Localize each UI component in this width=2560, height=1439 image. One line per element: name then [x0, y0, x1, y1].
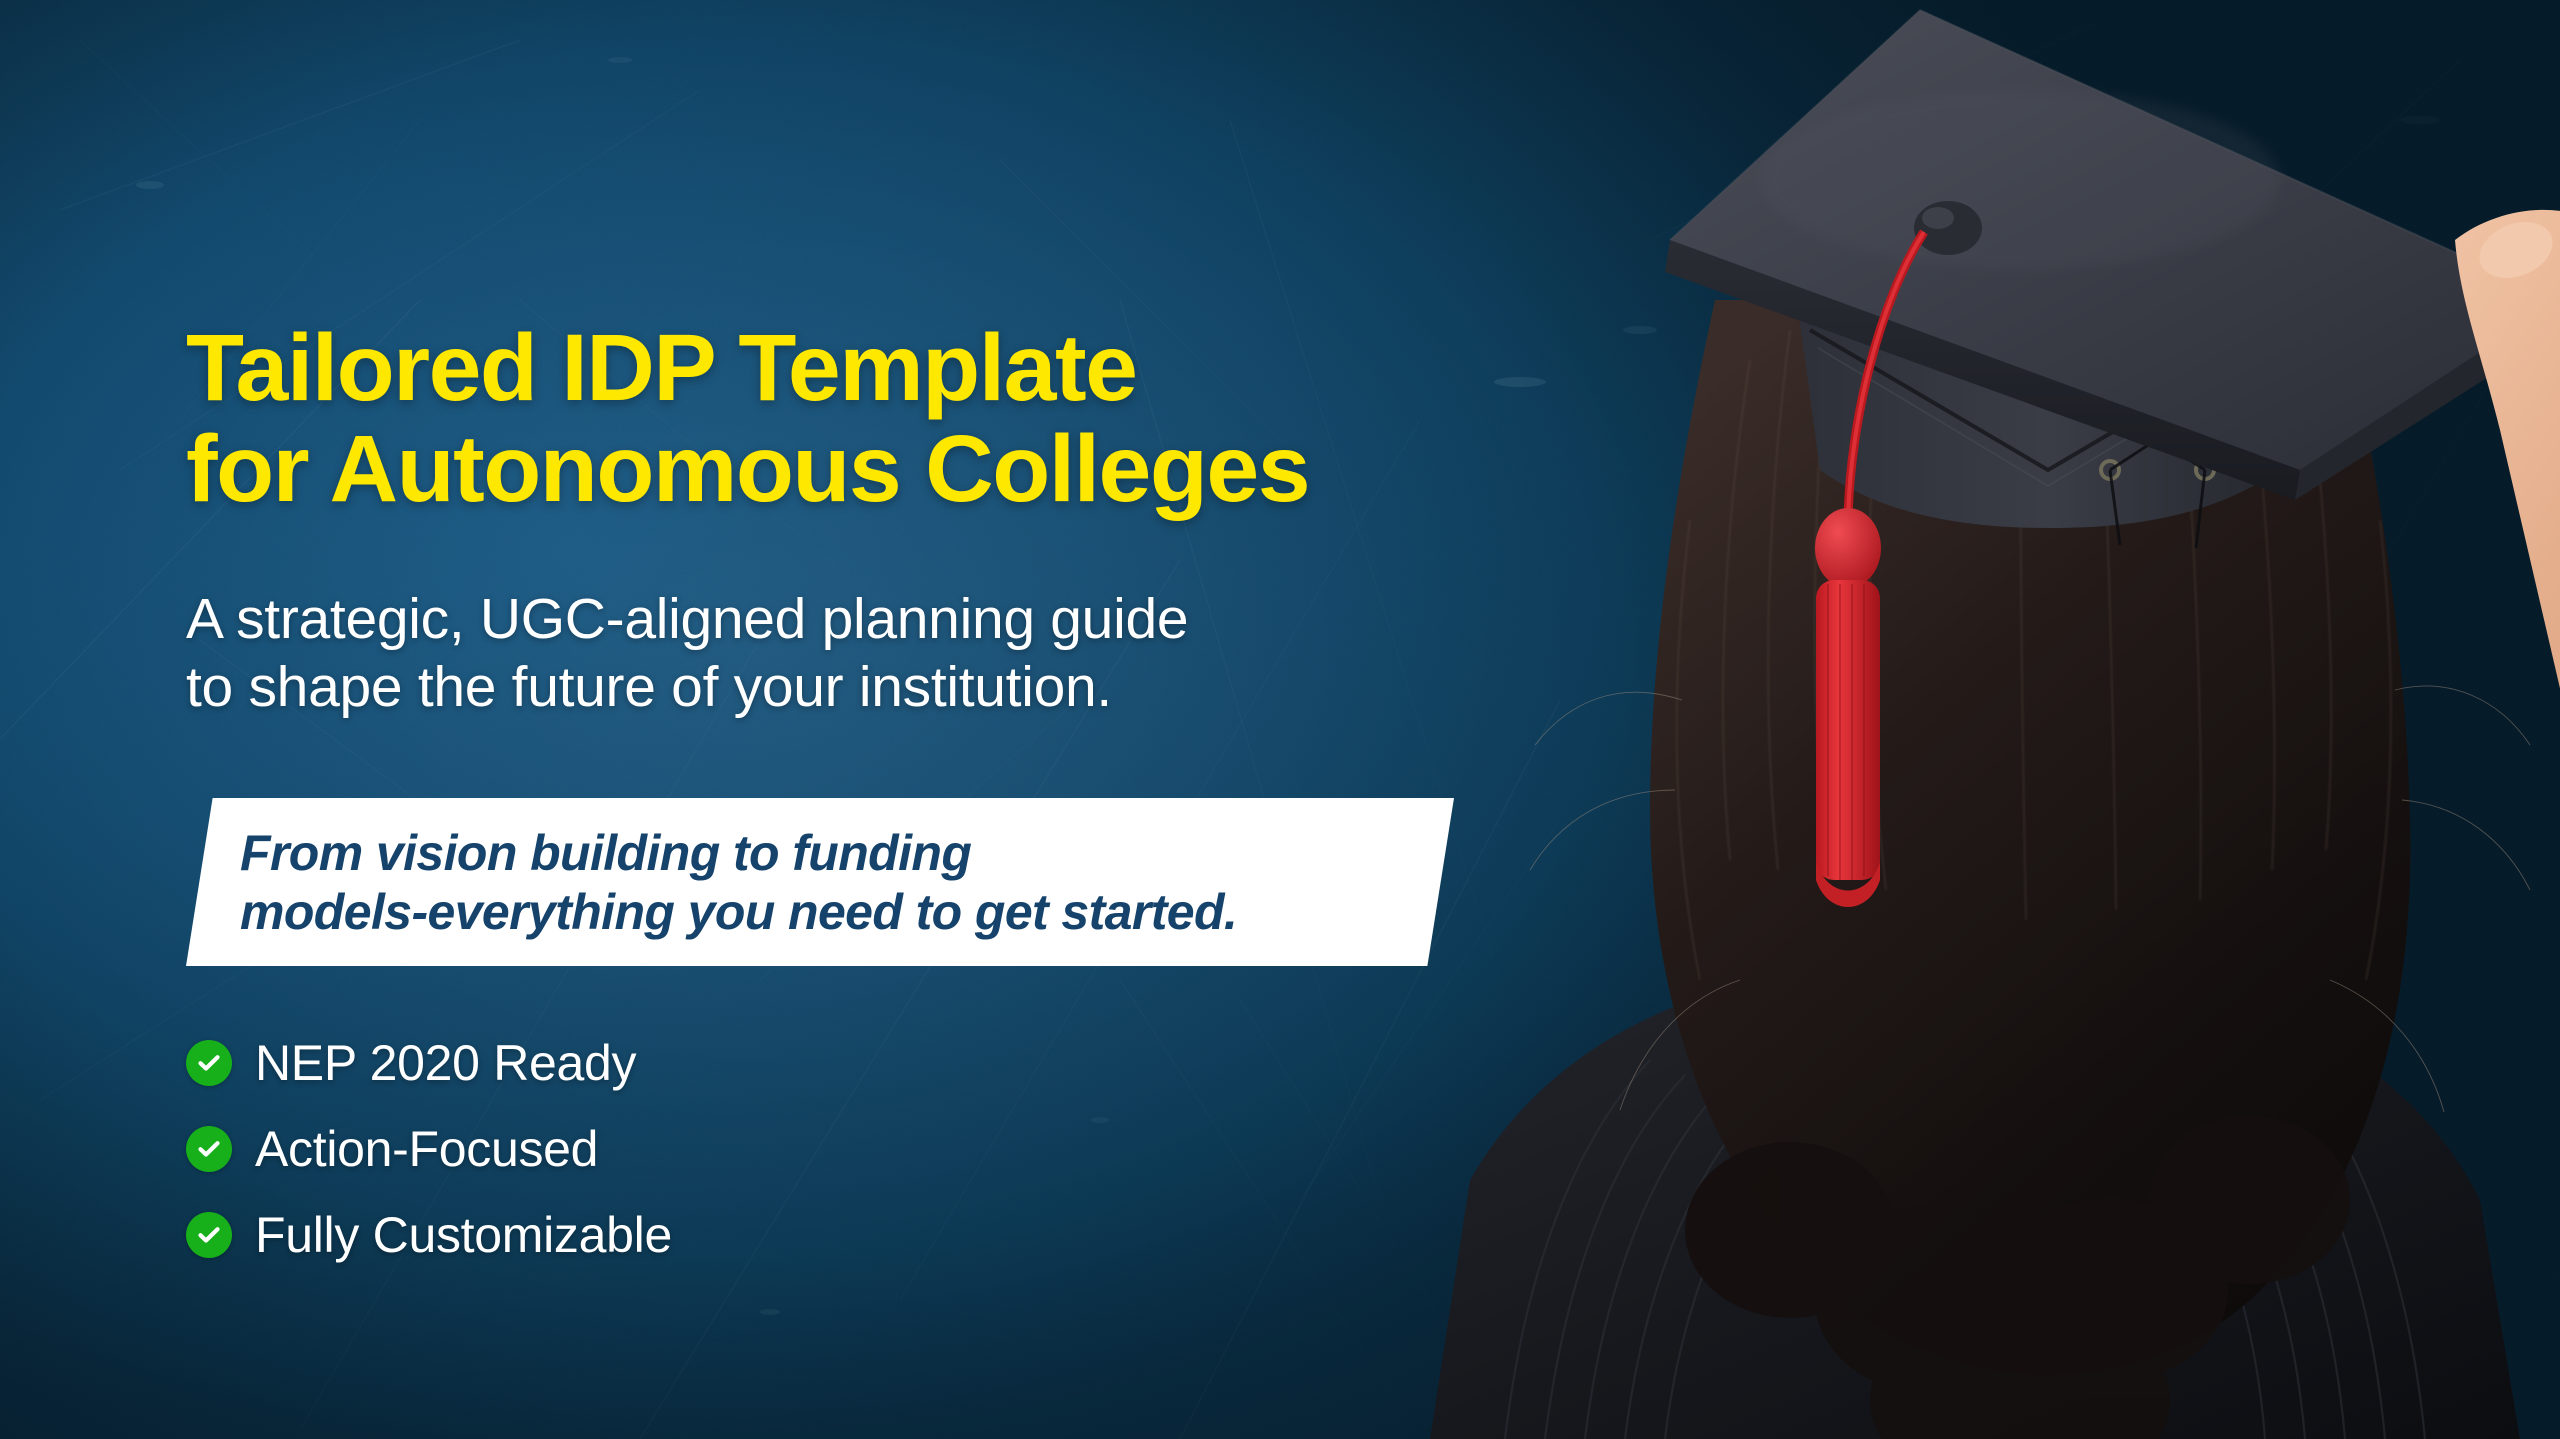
list-item: NEP 2020 Ready: [186, 1020, 672, 1106]
page-subtitle: A strategic, UGC-aligned planning guide …: [186, 585, 1486, 722]
check-circle-icon: [186, 1212, 232, 1258]
list-item: Fully Customizable: [186, 1192, 672, 1278]
feature-checklist: NEP 2020 Ready Action-Focused Fully Cust…: [186, 1020, 672, 1278]
promo-banner: Tailored IDP Template for Autonomous Col…: [0, 0, 2560, 1439]
checklist-item-label: NEP 2020 Ready: [255, 1034, 636, 1092]
text-content: Tailored IDP Template for Autonomous Col…: [0, 0, 1560, 1439]
checklist-item-label: Action-Focused: [255, 1120, 598, 1178]
check-circle-icon: [186, 1126, 232, 1172]
callout-text: From vision building to funding models-e…: [240, 824, 1420, 941]
hand: [2455, 202, 2560, 862]
callout-box: From vision building to funding models-e…: [186, 798, 1454, 966]
check-circle-icon: [186, 1040, 232, 1086]
checklist-item-label: Fully Customizable: [255, 1206, 672, 1264]
cap-button: [1914, 201, 1982, 255]
page-title: Tailored IDP Template for Autonomous Col…: [186, 318, 1486, 519]
list-item: Action-Focused: [186, 1106, 672, 1192]
